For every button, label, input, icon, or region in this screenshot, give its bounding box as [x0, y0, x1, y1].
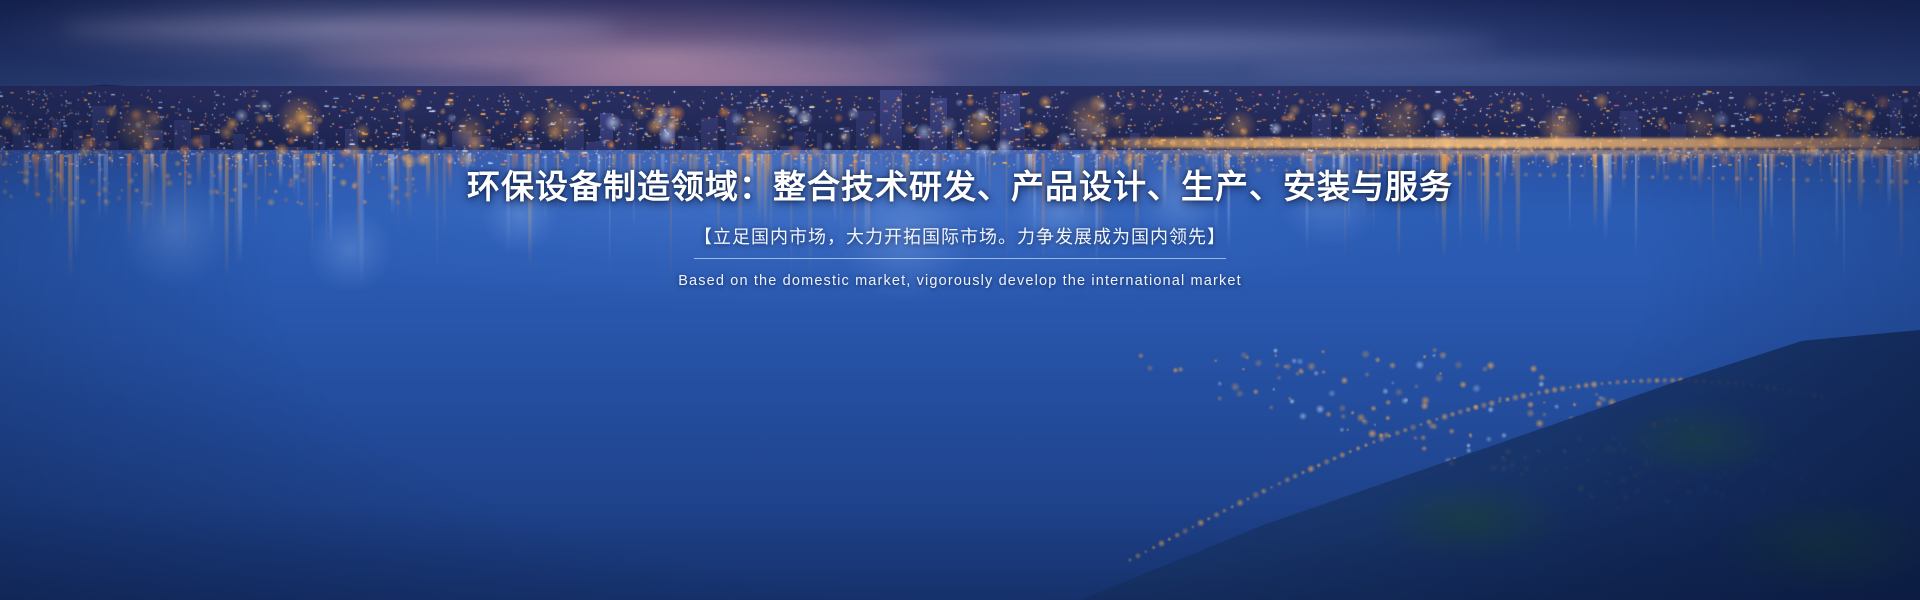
- cloud-streak: [60, 18, 620, 40]
- banner-headline: 环保设备制造领域：整合技术研发、产品设计、生产、安装与服务: [467, 166, 1453, 207]
- cloud-streak: [1250, 62, 1810, 78]
- cloud-streak: [300, 48, 940, 66]
- bridge-lights: [1080, 138, 1920, 148]
- hero-banner: 环保设备制造领域：整合技术研发、产品设计、生产、安装与服务 【立足国内市场，大力…: [0, 0, 1920, 600]
- cloud-streak: [880, 34, 1500, 54]
- cloud-streak: [520, 72, 950, 86]
- bridge-reflection: [1090, 150, 1920, 155]
- banner-english-tagline: Based on the domestic market, vigorously…: [678, 273, 1242, 289]
- banner-subtitle: 【立足国内市场，大力开拓国际市场。力争发展成为国内领先】: [694, 223, 1226, 259]
